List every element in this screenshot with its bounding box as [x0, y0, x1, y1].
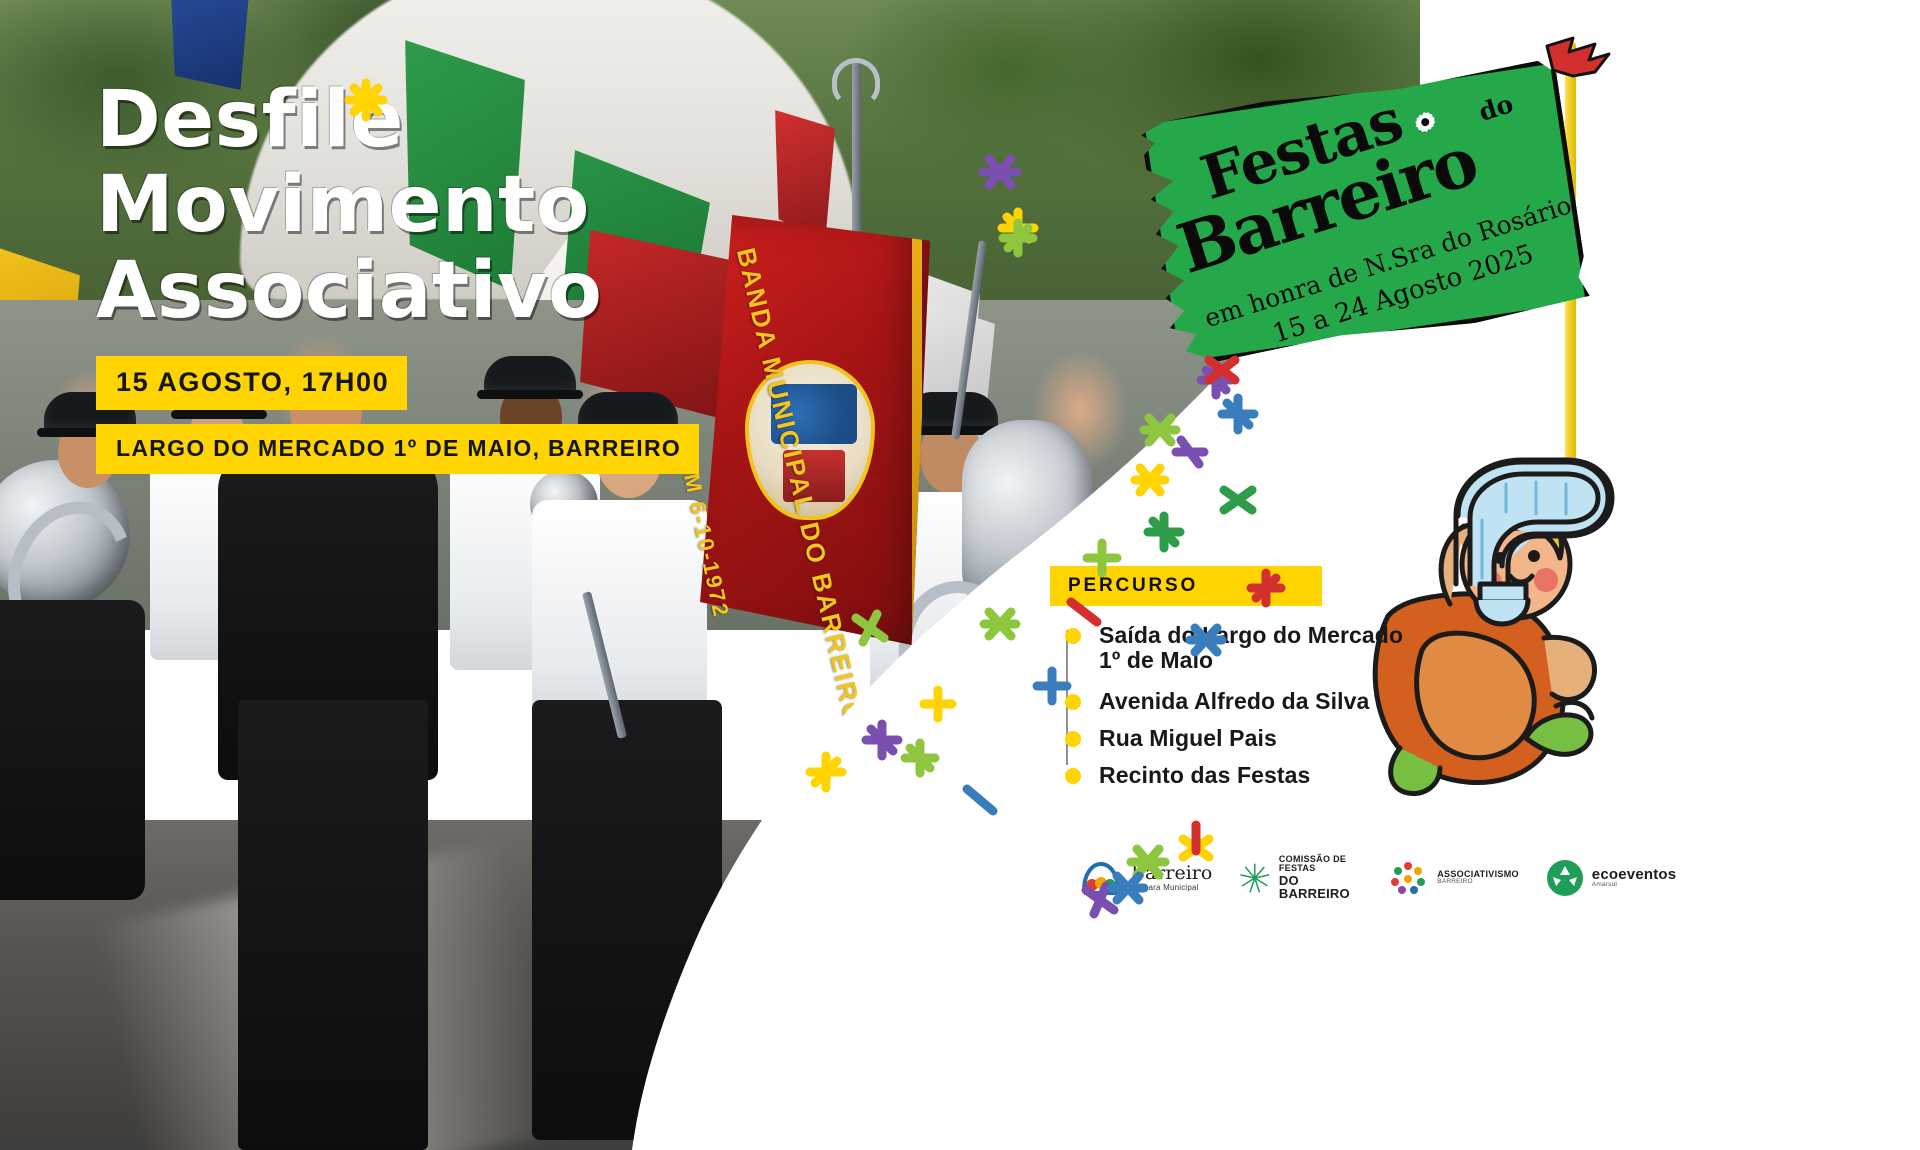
- sponsor-comissao-de-festas: COMISSÃO DE FESTAS DO BARREIRO: [1238, 855, 1360, 901]
- route-item: Rua Miguel Pais: [1056, 725, 1403, 752]
- route-dot-icon: [1065, 694, 1081, 710]
- route-item-sub: 1º de Maio: [1056, 647, 1403, 674]
- sponsor-subtitle: BARREIRO: [1437, 879, 1519, 886]
- poster-title-block: Desfile Movimento Associativo 15 AGOSTO,…: [96, 78, 1036, 474]
- sponsor-ecoeventos: ecoeventos Amarsul: [1545, 858, 1677, 898]
- route-dot-icon: [1065, 768, 1081, 784]
- sponsor-subtitle: DO BARREIRO: [1279, 874, 1360, 901]
- sponsor-camara-municipal-barreiro: Barreiro Câmara Municipal: [1078, 856, 1212, 900]
- route-item-label: Saída do Largo do Mercado: [1099, 622, 1403, 649]
- sponsor-subtitle: Câmara Municipal: [1131, 884, 1212, 892]
- route-item-label: Rua Miguel Pais: [1099, 725, 1277, 752]
- route-item-label: Recinto das Festas: [1099, 762, 1310, 789]
- event-date-badge: 15 AGOSTO, 17H00: [96, 356, 407, 410]
- gear-icon: [1409, 108, 1443, 142]
- route-item-sublabel: 1º de Maio: [1099, 647, 1213, 674]
- sponsor-associativismo-barreiro: ASSOCIATIVISMO BARREIRO: [1386, 856, 1519, 900]
- route-heading: PERCURSO: [1050, 566, 1322, 606]
- event-location-badge: LARGO DO MERCADO 1º DE MAIO, BARREIRO: [96, 424, 699, 474]
- sponsor-title: ecoeventos: [1592, 867, 1677, 883]
- route-item-label: Avenida Alfredo da Silva: [1099, 688, 1369, 715]
- page-title-line-2: Movimento Associativo: [96, 162, 1036, 334]
- page-title-line-1: Desfile: [96, 78, 1036, 162]
- route-item: Recinto das Festas: [1056, 762, 1403, 789]
- comissao-festas-icon: [1238, 856, 1272, 900]
- festas-word-do: do: [1475, 89, 1516, 127]
- route-dot-icon: [1065, 628, 1081, 644]
- sponsor-logos: Barreiro Câmara Municipal COMISSÃO DE FE…: [1078, 836, 1618, 920]
- route-dot-spacer-icon: [1065, 653, 1081, 669]
- route-dot-icon: [1065, 731, 1081, 747]
- sponsor-subtitle: Amarsul: [1592, 882, 1677, 889]
- event-poster: BANDA MUNICIPAL DO BARREIRO EM 6-10-1972: [0, 0, 1920, 1150]
- sponsor-title: COMISSÃO DE FESTAS: [1279, 855, 1360, 874]
- route-item: Avenida Alfredo da Silva: [1056, 688, 1403, 715]
- recycle-icon: [1545, 858, 1585, 898]
- route-list: Saída do Largo do Mercado 1º de Maio Ave…: [1050, 622, 1403, 789]
- route-section: PERCURSO Saída do Largo do Mercado 1º de…: [1050, 566, 1403, 799]
- route-item: Saída do Largo do Mercado: [1056, 622, 1403, 649]
- camara-municipal-barreiro-icon: [1078, 856, 1124, 900]
- associativismo-icon: [1386, 856, 1430, 900]
- sponsor-title: Barreiro: [1131, 864, 1212, 884]
